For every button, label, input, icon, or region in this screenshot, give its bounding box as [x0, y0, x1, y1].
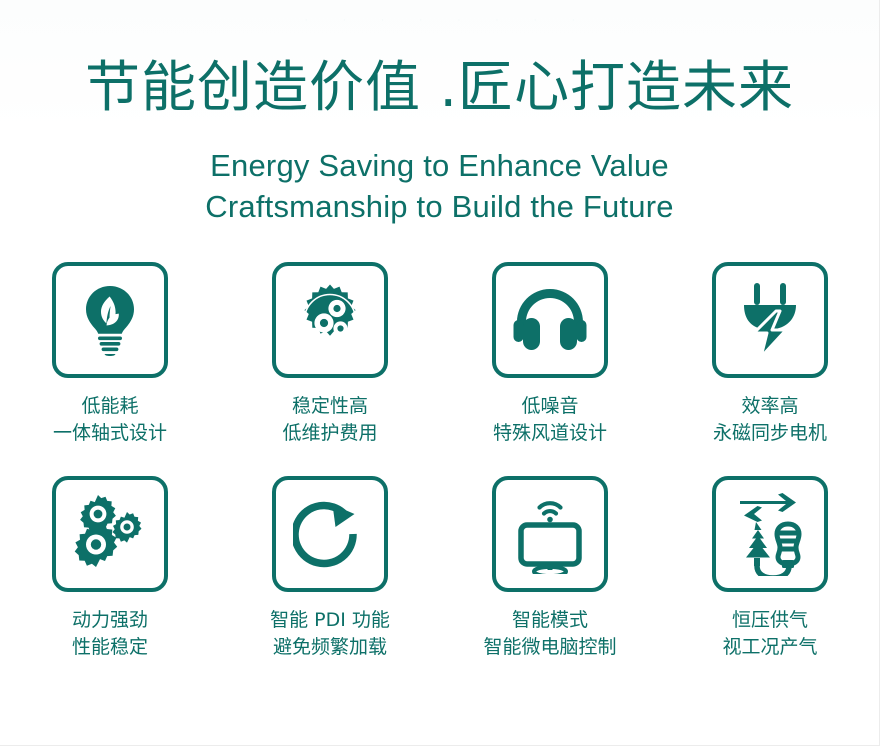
page-title-chinese: 节能创造价值 .匠心打造未来	[0, 56, 879, 120]
feature-item-smart-mode: 智能模式 智能微电脑控制	[440, 476, 660, 662]
feature-item-smart-pdi: 智能 PDI 功能 避免频繁加载	[220, 476, 440, 662]
subtitle-line-2: Craftsmanship to Build the Future	[0, 187, 879, 228]
feature-label: 恒压供气 视工况产气	[722, 607, 817, 662]
headphones-icon	[511, 287, 589, 353]
circular-refresh-arrow-icon	[293, 497, 367, 571]
feature-grid: 低能耗 一体轴式设计	[0, 262, 880, 662]
feature-label: 效率高 永磁同步电机	[713, 393, 827, 448]
feature-label: 稳定性高 低维护费用	[282, 393, 377, 448]
feature-label-line-2: 低维护费用	[282, 420, 377, 448]
feature-item-low-noise: 低噪音 特殊风道设计	[440, 262, 660, 448]
icon-box	[272, 476, 388, 592]
feature-label-line-1: 效率高	[741, 395, 798, 417]
icon-box	[492, 476, 608, 592]
feature-item-high-efficiency: 效率高 永磁同步电机	[660, 262, 880, 448]
feature-item-constant-pressure: 恒压供气 视工况产气	[660, 476, 880, 662]
feature-label-line-2: 特殊风道设计	[493, 420, 607, 448]
plug-lightning-icon	[738, 281, 802, 359]
subtitle-line-1: Energy Saving to Enhance Value	[0, 146, 879, 187]
feature-label: 智能 PDI 功能 避免频繁加载	[270, 607, 390, 662]
three-gears-icon	[69, 494, 151, 574]
feature-label-line-2: 智能微电脑控制	[483, 634, 616, 662]
icon-box	[712, 476, 828, 592]
feature-label-line-2: 一体轴式设计	[53, 420, 167, 448]
icon-box	[52, 476, 168, 592]
monitor-wifi-icon	[512, 494, 588, 574]
icon-box	[272, 262, 388, 378]
gear-cluster-circle-icon	[293, 283, 367, 357]
feature-label-line-1: 低能耗	[81, 395, 138, 417]
feature-label-line-2: 视工况产气	[722, 634, 817, 662]
icon-box	[52, 262, 168, 378]
feature-label: 低能耗 一体轴式设计	[53, 393, 167, 448]
feature-label: 动力强劲 性能稳定	[72, 607, 148, 662]
feature-label-line-1: 稳定性高	[292, 395, 368, 417]
feature-label: 智能模式 智能微电脑控制	[483, 607, 616, 662]
feature-item-low-energy: 低能耗 一体轴式设计	[0, 262, 220, 448]
feature-label-line-1: 恒压供气	[732, 609, 808, 631]
page-subtitle-english: Energy Saving to Enhance Value Craftsman…	[0, 146, 879, 228]
feature-label-line-2: 避免频繁加载	[270, 634, 390, 662]
feature-label: 低噪音 特殊风道设计	[493, 393, 607, 448]
feature-label-line-2: 永磁同步电机	[713, 420, 827, 448]
icon-box	[492, 262, 608, 378]
lightbulb-leaf-icon	[77, 284, 143, 356]
feature-label-line-1: 动力强劲	[72, 609, 148, 631]
feature-poster: · · · · · · · · 节能创造价值 .匠心打造未来 Energy Sa…	[0, 0, 880, 746]
feature-item-stability: 稳定性高 低维护费用	[220, 262, 440, 448]
feature-label-line-1: 智能模式	[512, 609, 588, 631]
feature-item-powerful: 动力强劲 性能稳定	[0, 476, 220, 662]
feature-label-line-1: 低噪音	[521, 395, 578, 417]
icon-box	[712, 262, 828, 378]
tree-cfl-exchange-icon	[730, 492, 810, 576]
title-block: 节能创造价值 .匠心打造未来 Energy Saving to Enhance …	[0, 0, 879, 228]
feature-label-line-1: 智能 PDI 功能	[270, 609, 390, 631]
feature-label-line-2: 性能稳定	[72, 634, 148, 662]
